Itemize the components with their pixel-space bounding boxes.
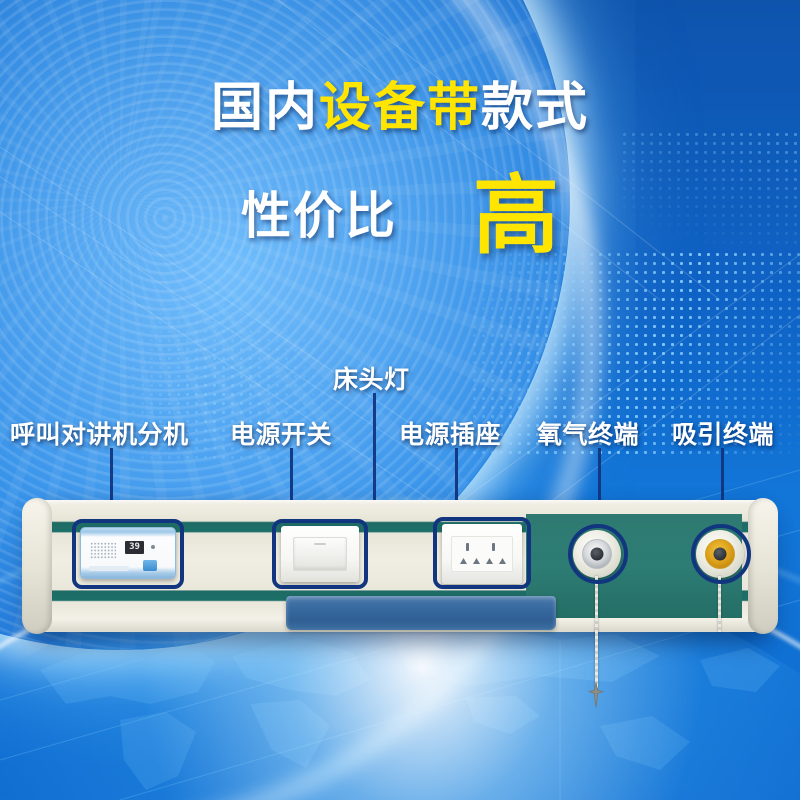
highlight-ring-oxygen (568, 524, 628, 584)
pull-cord (595, 630, 598, 688)
headline-line-1: 国内设备带款式 (0, 82, 800, 134)
headline-part-1: 国内 (211, 79, 319, 137)
unit-end-cap-right (748, 498, 778, 634)
headline-block: 国内设备带款式 性价比 高 (0, 82, 800, 134)
bed-head-unit: 39 (28, 500, 772, 632)
headline-highlight: 设备带 (319, 79, 481, 137)
callout-label-suction-terminal: 吸引终端 (672, 415, 774, 451)
callout-label-oxygen-terminal: 氧气终端 (537, 415, 639, 451)
highlight-box-switch (272, 519, 368, 589)
suction-cord (718, 576, 721, 632)
callout-label-power-socket: 电源插座 (399, 415, 501, 451)
cord-weight-icon (588, 682, 604, 708)
callout-label-intercom: 呼叫对讲机分机 (10, 415, 189, 451)
highlight-box-intercom (72, 519, 184, 589)
oxygen-cord (595, 576, 598, 632)
headline-line-2: 性价比 高 (0, 168, 800, 248)
callout-label-bed-lamp: 床头灯 (333, 360, 410, 396)
callout-label-power-switch: 电源开关 (230, 415, 332, 451)
poster-canvas: 国内设备带款式 性价比 高 呼叫对讲机分机 电源开关 床头灯 电源插座 氧气终端… (0, 0, 800, 800)
highlight-box-socket (433, 517, 531, 589)
highlight-ring-suction (691, 524, 751, 584)
unit-end-cap-left (22, 498, 52, 634)
bed-lamp-diffuser[interactable] (286, 596, 556, 630)
headline-subtext: 性价比 (241, 176, 397, 248)
headline-big-char: 高 (473, 180, 559, 253)
headline-part-2: 款式 (481, 79, 589, 137)
